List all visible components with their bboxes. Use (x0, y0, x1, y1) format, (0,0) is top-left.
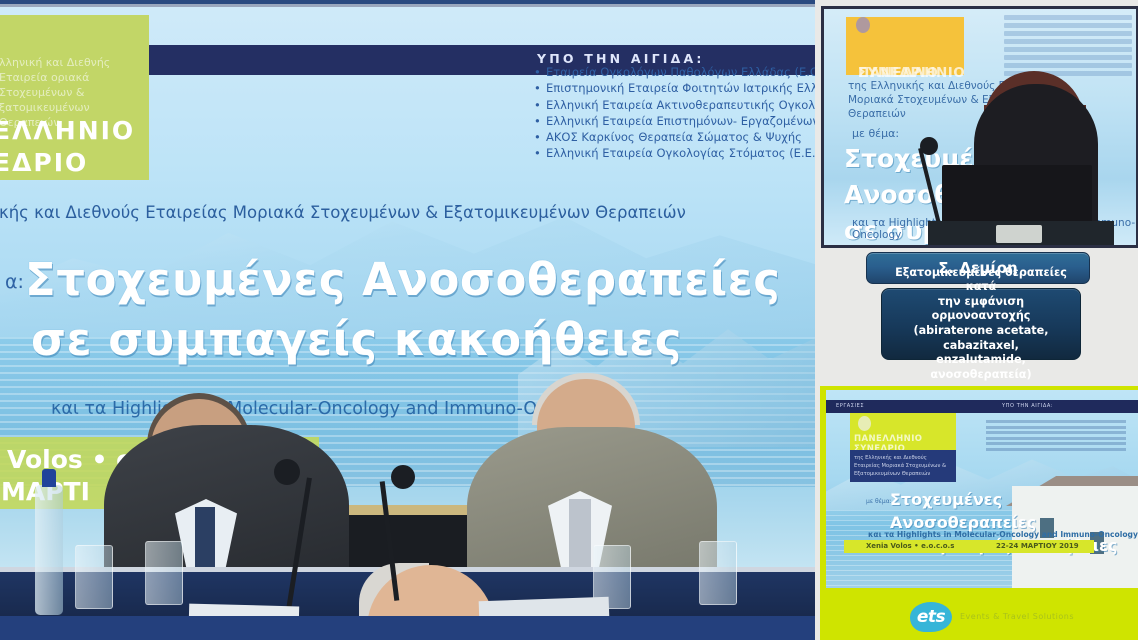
poster-top-bar: ΕΡΓΑΣΙΕΣ ΥΠΟ ΤΗΝ ΑΙΓΙΔΑ: (826, 400, 1138, 413)
congress-poster-thumbnail[interactable]: ΠΑΝΕΛΛΗΝΙΟ ΣΥΝΕΔΡΙΟ της Ελληνικής και Δι… (820, 386, 1138, 640)
poster-topbar-right-text: ΥΠΟ ΤΗΝ ΑΙΓΙΔΑ: (1002, 403, 1053, 409)
ets-tagline: Events & Travel Solutions (960, 612, 1074, 621)
microphone-head (391, 465, 415, 489)
presentation-slide: ΣΗ: ΥΠΟ ΤΗΝ ΑΙΓΙΔΑ: λληνική και Διεθνής … (0, 7, 815, 616)
ets-logo-icon: ets (910, 602, 952, 632)
podium-microphone-head (920, 137, 938, 155)
poster-highlights-line: και τα Highlights in Molecular-Oncology … (868, 530, 1138, 539)
auspices-list-item: Εταιρεία Ογκολόγων Παθολόγων Ελλάδας (Ε.… (532, 64, 815, 80)
ets-logo-text: ets (917, 607, 945, 627)
talk-title-text: Εξατομικευμένες θεραπείες κατάτην εμφάνι… (888, 266, 1074, 383)
podium-plaque (996, 225, 1042, 243)
webcam-background-slide: ΠΑΝΕΛΛΗΝΙΟΣΥΝΕΔΡΙΟ της Ελληνικής και Διε… (824, 9, 1136, 245)
speaker-webcam-panel[interactable]: ΠΑΝΕΛΛΗΝΙΟΣΥΝΕΔΡΙΟ της Ελληνικής και Διε… (821, 6, 1138, 248)
poster-venue-strip: Xenia Volos • e.o.c.o.s 22-24 ΜΑΡΤΙΟΥ 20… (844, 540, 1094, 553)
laptop-on-podium (942, 165, 1092, 227)
water-bottle (35, 485, 63, 615)
main-video-frame: ΣΗ: ΥΠΟ ΤΗΝ ΑΙΓΙΔΑ: λληνική και Διεθνής … (0, 4, 815, 619)
poster-venue-text: Xenia Volos • e.o.c.o.s (866, 542, 954, 550)
congress-emblem-icon (856, 17, 870, 33)
poster-title-line1: Στοχευμένες Ανοσοθεραπείες (890, 490, 1036, 532)
drinking-glass (699, 541, 737, 605)
webcam-theme-prefix: με θέμα: (852, 127, 899, 140)
main-video-panel[interactable]: ΣΗ: ΥΠΟ ΤΗΝ ΑΙΓΙΔΑ: λληνική και Διεθνής … (0, 0, 815, 640)
drinking-glass (145, 541, 183, 605)
poster-artwork: ΠΑΝΕΛΛΗΝΙΟ ΣΥΝΕΔΡΙΟ της Ελληνικής και Δι… (826, 390, 1138, 588)
talk-title-line: (abiraterone acetate, cabazitaxel, (913, 324, 1048, 352)
talk-title-box: Εξατομικευμένες θεραπείες κατάτην εμφάνι… (881, 288, 1081, 360)
slide-society-subtitle: κής και Διεθνούς Εταιρείας Μοριακά Στοχε… (0, 203, 699, 222)
drinking-glass (75, 545, 113, 609)
auspices-list-item: ΑΚΟΣ Καρκίνος Θεραπεία Σώματος & Ψυχής (532, 129, 815, 145)
microphone-head (274, 459, 300, 485)
slide-title-line1: Στοχευμένες Ανοσοθεραπείες (25, 253, 780, 306)
auspices-list-item: Ελληνική Εταιρεία Επιστημόνων- Εργαζομέν… (532, 113, 815, 129)
poster-emblem-icon (858, 416, 871, 431)
talk-title-line: enzalutamide, ανοσοθεραπεία) (930, 353, 1031, 381)
slide-theme-prefix: α: (5, 271, 24, 293)
slide-title-line2: σε συμπαγείς κακοήθειες (25, 310, 795, 370)
documents-on-table (189, 604, 299, 616)
poster-topbar-left-text: ΕΡΓΑΣΙΕΣ (836, 403, 864, 409)
poster-theme-prefix: με θέμα: (866, 498, 892, 505)
webcam-bullet-lines (1004, 15, 1132, 79)
auspices-list-item: Ελληνική Εταιρεία Ογκολογίας Στόματος (Ε… (532, 145, 815, 161)
congress-title-line2: ΕΔΡΙΟ (0, 148, 88, 177)
auspices-list-item: Ελληνική Εταιρεία Ακτινοθεραπευτικής Ογκ… (532, 97, 815, 113)
congress-green-panel: λληνική και Διεθνής Εταιρεία οριακά Στοχ… (0, 15, 149, 180)
poster-date-text: 22-24 ΜΑΡΤΙΟΥ 2019 (996, 542, 1079, 550)
documents-on-table (479, 597, 610, 616)
poster-society-box: της Ελληνικής και Διεθνούς Εταιρείας Μορ… (850, 450, 956, 482)
talk-title-line: την εμφάνιση ορμονοαντοχής (932, 295, 1031, 323)
talk-title-line: Εξατομικευμένες θεραπείες κατά (895, 266, 1067, 294)
congress-title-text: ΕΛΛΗΝΙΟ ΕΔΡΙΟ (0, 115, 135, 179)
auspices-list: Εταιρεία Ογκολόγων Παθολόγων Ελλάδας (Ε.… (532, 64, 815, 162)
poster-society-text: της Ελληνικής και Διεθνούς Εταιρείας Μορ… (854, 454, 952, 478)
slide-main-title: Στοχευμένες Ανοσοθεραπείες σε συμπαγείς … (25, 250, 795, 370)
broadcast-viewer: ΣΗ: ΥΠΟ ΤΗΝ ΑΙΓΙΔΑ: λληνική και Διεθνής … (0, 0, 1138, 640)
congress-title-line1: ΕΛΛΗΝΙΟ (0, 116, 135, 145)
main-video-bottom-strip (0, 616, 815, 640)
auspices-list-item: Επιστημονική Εταιρεία Φοιτητών Ιατρικής … (532, 80, 815, 96)
poster-bullet-lines (986, 420, 1126, 454)
